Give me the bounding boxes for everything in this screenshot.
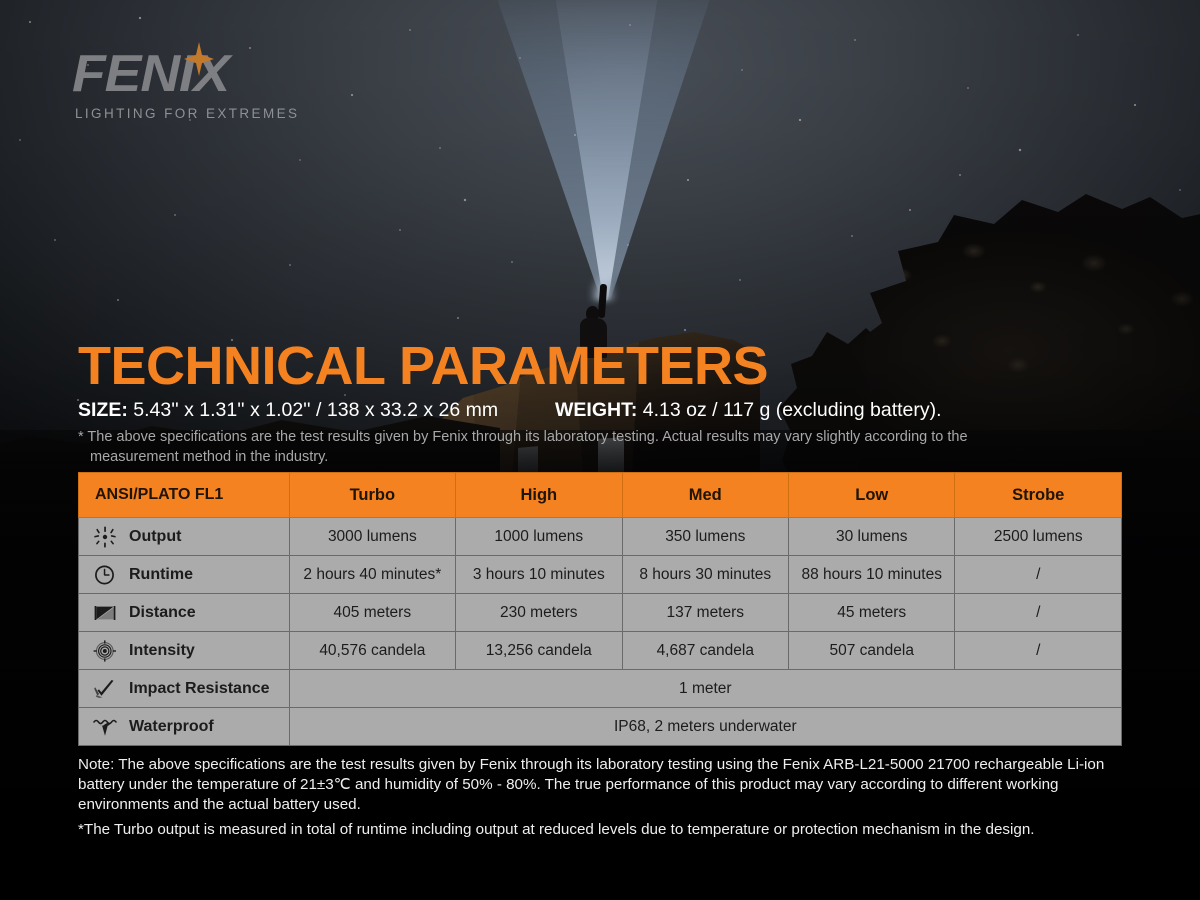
target-intensity-icon xyxy=(93,640,117,662)
cell-impact-resistance-value: 1 meter xyxy=(289,670,1121,708)
row-label-impact-resistance: Impact Resistance xyxy=(79,670,290,708)
spec-disclaimer-line2: measurement method in the industry. xyxy=(78,448,1118,468)
cell-runtime-med: 8 hours 30 minutes xyxy=(622,556,788,594)
cell-distance-med: 137 meters xyxy=(622,594,788,632)
table-row: Runtime 2 hours 40 minutes* 3 hours 10 m… xyxy=(79,556,1122,594)
table-row: Intensity 40,576 candela 13,256 candela … xyxy=(79,632,1122,670)
cell-output-high: 1000 lumens xyxy=(456,518,622,556)
page-title: TECHNICAL PARAMETERS xyxy=(78,339,768,393)
fenix-logo: FENIX LIGHTING FOR EXTREMES xyxy=(72,48,372,128)
table-row: Output 3000 lumens 1000 lumens 350 lumen… xyxy=(79,518,1122,556)
spec-disclaimer: * The above specifications are the test … xyxy=(78,428,1118,467)
cell-output-low: 30 lumens xyxy=(789,518,955,556)
column-header-high: High xyxy=(456,473,622,518)
column-header-standard: ANSI/PLATO FL1 xyxy=(79,473,290,518)
cell-runtime-high: 3 hours 10 minutes xyxy=(456,556,622,594)
row-label-distance: Distance xyxy=(79,594,290,632)
fenix-tagline: LIGHTING FOR EXTREMES xyxy=(75,106,299,121)
technical-parameters-page: FENIX LIGHTING FOR EXTREMES TECHNICAL PA… xyxy=(0,0,1200,900)
clock-icon xyxy=(93,564,117,586)
row-label-text: Waterproof xyxy=(129,718,214,736)
row-label-text: Intensity xyxy=(129,642,195,660)
cell-output-strobe: 2500 lumens xyxy=(955,518,1122,556)
cell-runtime-turbo: 2 hours 40 minutes* xyxy=(289,556,455,594)
cell-distance-turbo: 405 meters xyxy=(289,594,455,632)
row-label-runtime: Runtime xyxy=(79,556,290,594)
cell-distance-high: 230 meters xyxy=(456,594,622,632)
size-label: SIZE: xyxy=(78,399,128,421)
row-label-text: Output xyxy=(129,528,181,546)
column-header-med: Med xyxy=(622,473,788,518)
cell-waterproof-value: IP68, 2 meters underwater xyxy=(289,708,1121,746)
row-label-waterproof: Waterproof xyxy=(79,708,290,746)
table-header-row: ANSI/PLATO FL1 Turbo High Med Low Strobe xyxy=(79,473,1122,518)
table-row: Impact Resistance 1 meter xyxy=(79,670,1122,708)
beam-distance-icon xyxy=(93,602,117,624)
cell-runtime-low: 88 hours 10 minutes xyxy=(789,556,955,594)
column-header-turbo: Turbo xyxy=(289,473,455,518)
cell-intensity-turbo: 40,576 candela xyxy=(289,632,455,670)
cell-output-med: 350 lumens xyxy=(622,518,788,556)
cell-distance-low: 45 meters xyxy=(789,594,955,632)
impact-resistance-icon xyxy=(93,678,117,700)
cell-intensity-med: 4,687 candela xyxy=(622,632,788,670)
size-value: 5.43'' x 1.31'' x 1.02'' / 138 x 33.2 x … xyxy=(133,399,498,421)
cell-intensity-high: 13,256 candela xyxy=(456,632,622,670)
table-row: Distance 405 meters 230 meters 137 meter… xyxy=(79,594,1122,632)
row-label-text: Distance xyxy=(129,604,196,622)
cell-distance-strobe: / xyxy=(955,594,1122,632)
spec-disclaimer-line1: * The above specifications are the test … xyxy=(78,429,968,445)
column-header-strobe: Strobe xyxy=(955,473,1122,518)
note-main: Note: The above specifications are the t… xyxy=(78,755,1140,815)
column-header-low: Low xyxy=(789,473,955,518)
table-header: ANSI/PLATO FL1 Turbo High Med Low Strobe xyxy=(79,473,1122,518)
cell-intensity-low: 507 candela xyxy=(789,632,955,670)
starburst-icon xyxy=(93,526,117,548)
table-row: Waterproof IP68, 2 meters underwater xyxy=(79,708,1122,746)
weight-value: 4.13 oz / 117 g (excluding battery). xyxy=(643,399,942,421)
row-label-text: Impact Resistance xyxy=(129,680,270,698)
row-label-intensity: Intensity xyxy=(79,632,290,670)
cell-runtime-strobe: / xyxy=(955,556,1122,594)
weight-label: WEIGHT: xyxy=(555,399,637,421)
size-weight-line: SIZE: 5.43'' x 1.31'' x 1.02'' / 138 x 3… xyxy=(78,400,1138,421)
table-body: Output 3000 lumens 1000 lumens 350 lumen… xyxy=(79,518,1122,746)
fenix-wordmark: FENIX xyxy=(72,48,390,100)
cell-intensity-strobe: / xyxy=(955,632,1122,670)
row-label-text: Runtime xyxy=(129,566,193,584)
technical-parameters-table: ANSI/PLATO FL1 Turbo High Med Low Strobe xyxy=(78,472,1122,746)
cell-output-turbo: 3000 lumens xyxy=(289,518,455,556)
waterproof-icon xyxy=(93,716,117,738)
note-turbo-asterisk: *The Turbo output is measured in total o… xyxy=(78,820,1142,840)
row-label-output: Output xyxy=(79,518,290,556)
